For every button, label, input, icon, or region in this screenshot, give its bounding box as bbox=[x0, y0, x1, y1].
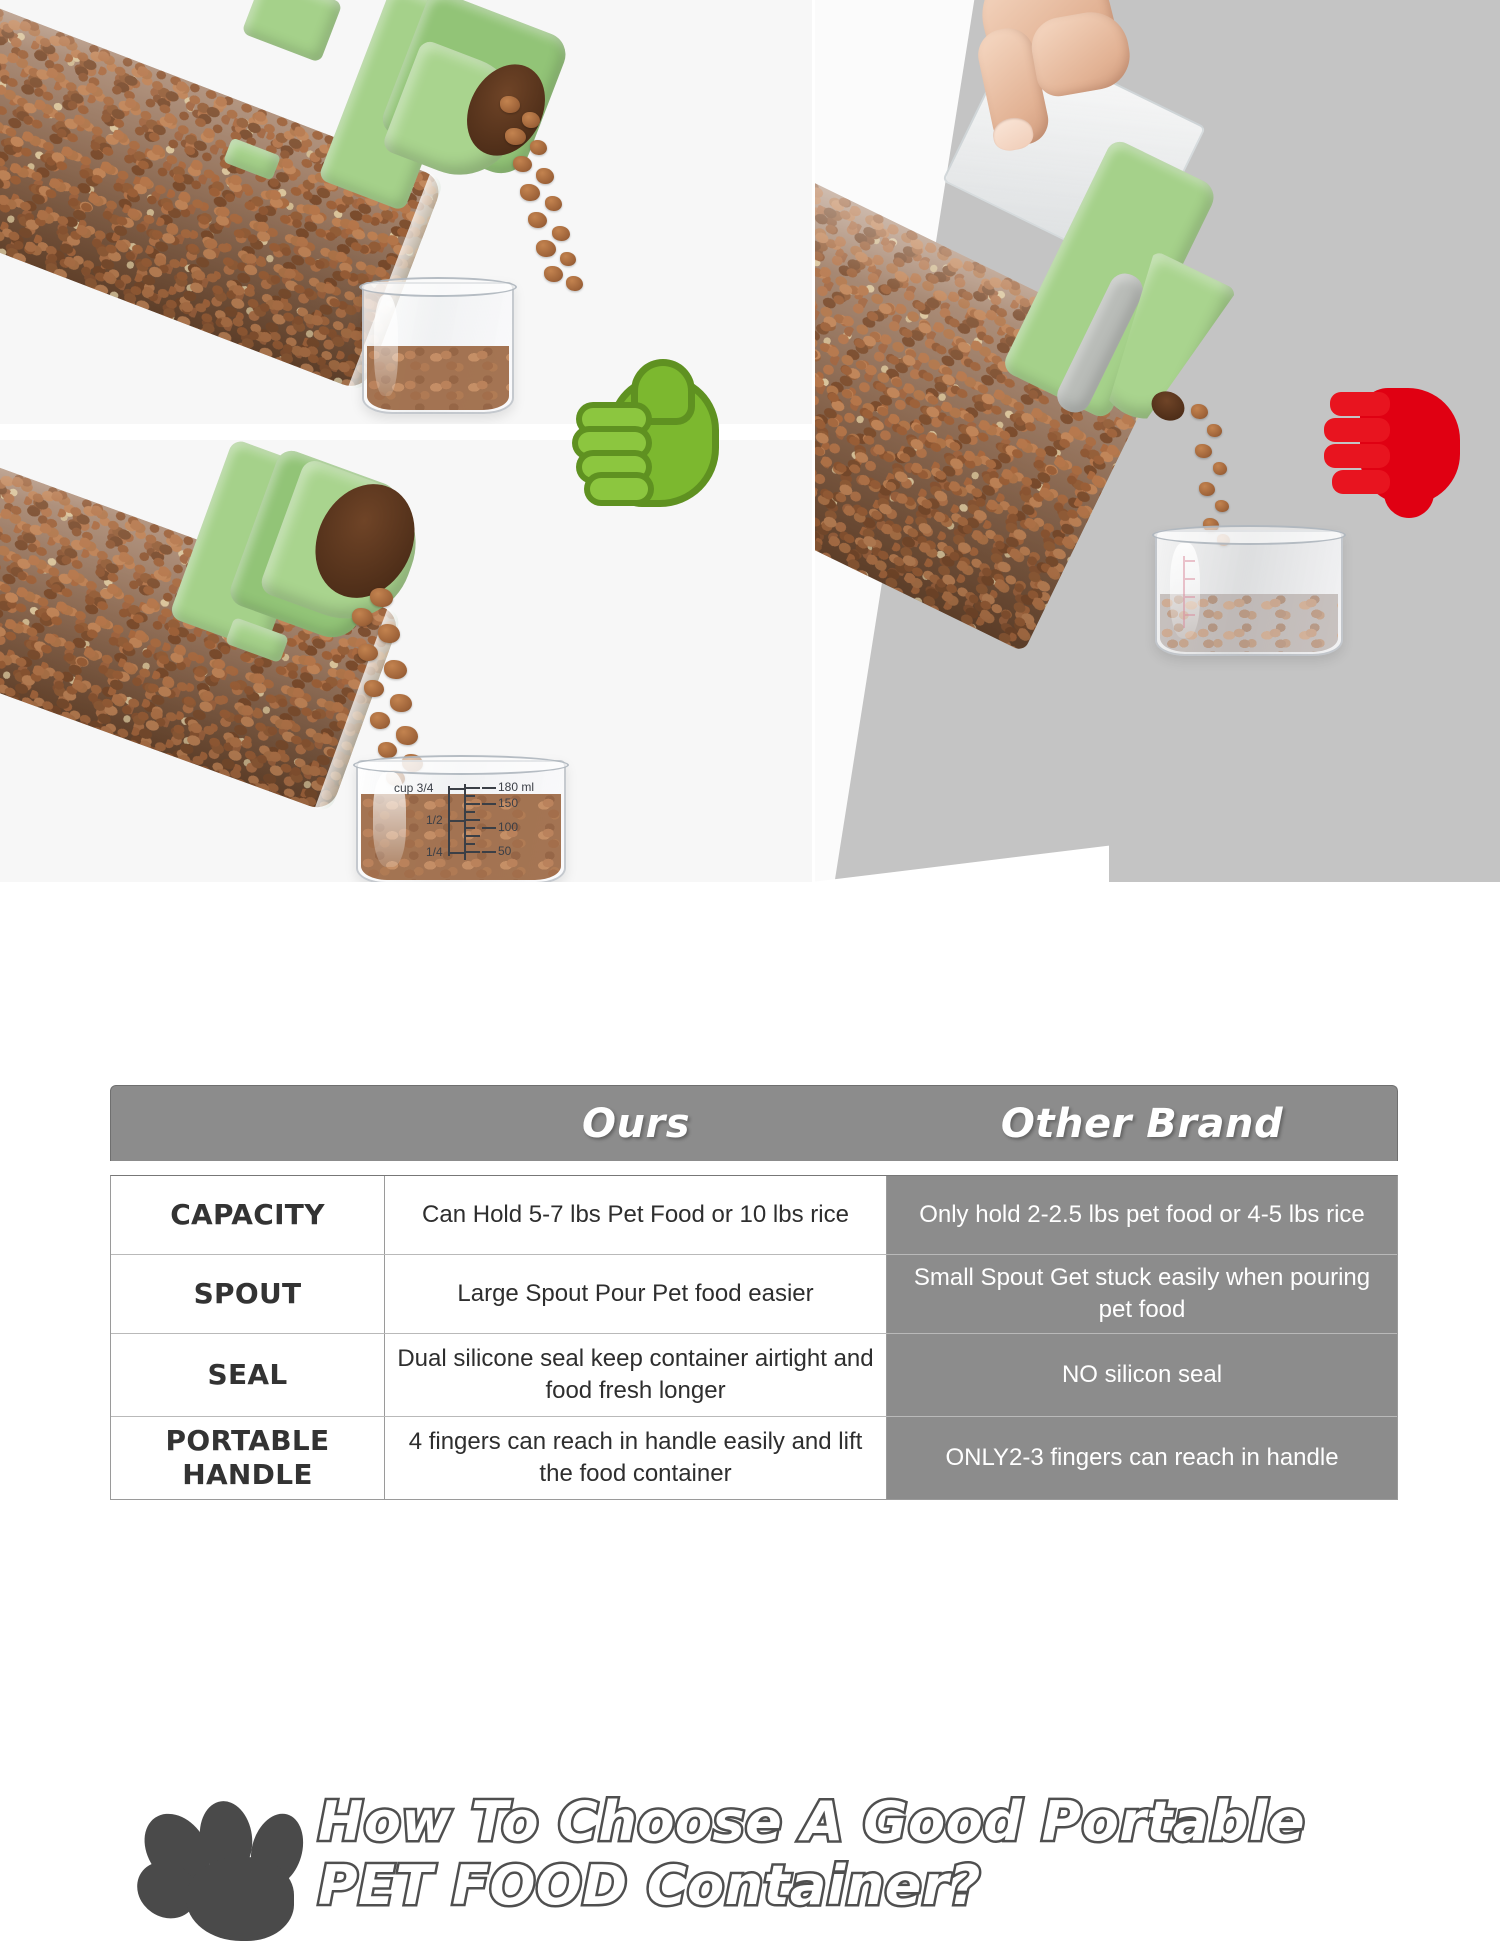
scale-label-150: 150 bbox=[498, 796, 518, 810]
ours-value-seal: Dual silicone seal keep container airtig… bbox=[397, 1343, 874, 1407]
header-ours-label: Ours bbox=[582, 1101, 690, 1147]
cell-feature: SEAL bbox=[111, 1334, 385, 1416]
container-handle-tab bbox=[241, 0, 342, 63]
header-body-gap bbox=[110, 1161, 1398, 1175]
cell-other: Only hold 2-2.5 lbs pet food or 4-5 lbs … bbox=[887, 1176, 1397, 1254]
thumbs-up-icon bbox=[578, 370, 728, 508]
header-other-label: Other Brand bbox=[1001, 1101, 1283, 1147]
measuring-cup-scale-faint bbox=[1155, 530, 1343, 656]
scale-label-100: 100 bbox=[498, 820, 518, 834]
scale-label-quarter: 1/4 bbox=[426, 845, 443, 859]
other-value-portable-handle: ONLY2-3 fingers can reach in handle bbox=[945, 1442, 1338, 1474]
cell-ours: Dual silicone seal keep container airtig… bbox=[385, 1334, 887, 1416]
cell-feature: CAPACITY bbox=[111, 1176, 385, 1254]
feature-label-seal: SEAL bbox=[207, 1358, 287, 1392]
thumbs-down-icon bbox=[1322, 382, 1474, 522]
cell-ours: Can Hold 5-7 lbs Pet Food or 10 lbs rice bbox=[385, 1176, 887, 1254]
other-value-seal: NO silicon seal bbox=[1062, 1359, 1222, 1391]
feature-label-spout: SPOUT bbox=[194, 1277, 302, 1311]
ours-value-capacity: Can Hold 5-7 lbs Pet Food or 10 lbs rice bbox=[422, 1199, 849, 1231]
table-header-band: Ours Other Brand bbox=[110, 1085, 1398, 1161]
ours-value-portable-handle: 4 fingers can reach in handle easily and… bbox=[397, 1426, 874, 1490]
measuring-cup-top-left bbox=[362, 282, 514, 414]
table-row: CAPACITY Can Hold 5-7 lbs Pet Food or 10… bbox=[111, 1176, 1397, 1255]
ours-value-spout: Large Spout Pour Pet food easier bbox=[457, 1278, 813, 1310]
scale-label-180ml: 180 ml bbox=[498, 780, 534, 794]
measuring-cup-right bbox=[1155, 530, 1343, 656]
page-title: How To Choose A Good Portable PET FOOD C… bbox=[318, 1790, 1428, 1918]
cell-other: NO silicon seal bbox=[887, 1334, 1397, 1416]
scale-label-half: 1/2 bbox=[426, 813, 443, 827]
section-heading: How To Choose A Good Portable PET FOOD C… bbox=[0, 882, 1500, 1082]
table-row: SPOUT Large Spout Pour Pet food easier S… bbox=[111, 1255, 1397, 1334]
feature-label-capacity: CAPACITY bbox=[170, 1198, 325, 1232]
scale-label-cup-34: cup 3/4 bbox=[394, 781, 433, 795]
other-value-spout: Small Spout Get stuck easily when pourin… bbox=[899, 1262, 1385, 1326]
cell-ours: Large Spout Pour Pet food easier bbox=[385, 1255, 887, 1333]
cell-other: ONLY2-3 fingers can reach in handle bbox=[887, 1417, 1397, 1499]
other-value-capacity: Only hold 2-2.5 lbs pet food or 4-5 lbs … bbox=[919, 1199, 1365, 1231]
product-photo-collage: cup 3/4 1/2 1/4 180 ml 150 100 5 bbox=[0, 0, 1500, 882]
scale-label-50: 50 bbox=[498, 844, 511, 858]
header-feature-spacer bbox=[111, 1086, 385, 1161]
table-row: SEAL Dual silicone seal keep container a… bbox=[111, 1334, 1397, 1417]
cell-other: Small Spout Get stuck easily when pourin… bbox=[887, 1255, 1397, 1333]
photo-panel-top-left bbox=[0, 0, 812, 424]
header-other-brand: Other Brand bbox=[887, 1086, 1397, 1161]
cell-ours: 4 fingers can reach in handle easily and… bbox=[385, 1417, 887, 1499]
table-row: PORTABLE HANDLE 4 fingers can reach in h… bbox=[111, 1417, 1397, 1499]
header-ours: Ours bbox=[385, 1086, 887, 1161]
cell-feature: PORTABLE HANDLE bbox=[111, 1417, 385, 1499]
cell-feature: SPOUT bbox=[111, 1255, 385, 1333]
feature-label-portable-handle: PORTABLE HANDLE bbox=[115, 1424, 380, 1492]
comparison-table: Ours Other Brand CAPACITY Can Hold 5-7 l… bbox=[110, 1085, 1398, 1500]
table-body: CAPACITY Can Hold 5-7 lbs Pet Food or 10… bbox=[110, 1175, 1398, 1500]
measuring-cup-scale: cup 3/4 1/2 1/4 180 ml 150 100 5 bbox=[356, 760, 566, 882]
measuring-cup-bottom-left: cup 3/4 1/2 1/4 180 ml 150 100 5 bbox=[356, 760, 566, 882]
paw-print-icon bbox=[148, 1785, 333, 1940]
